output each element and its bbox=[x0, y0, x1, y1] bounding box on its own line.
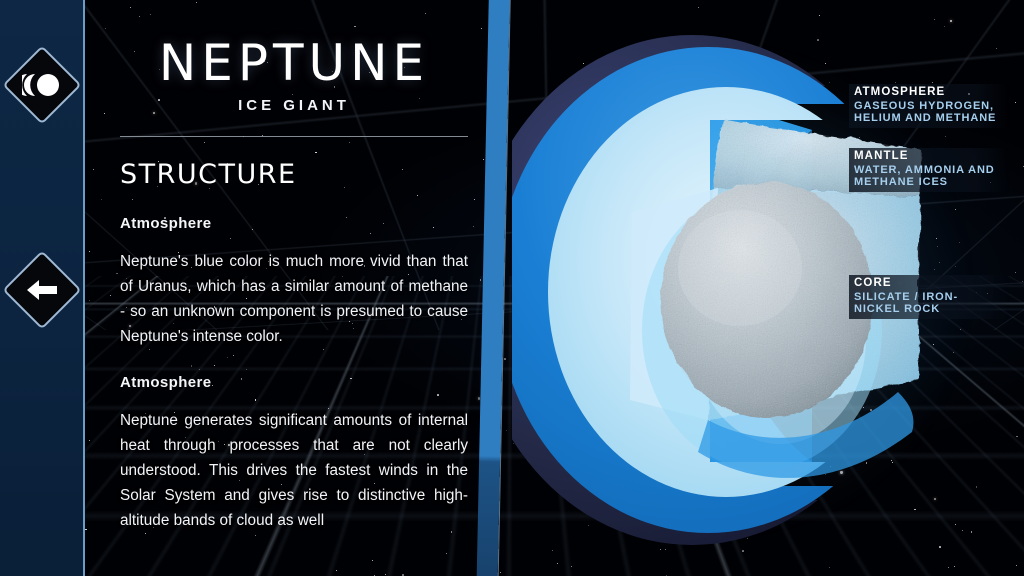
section-atmosphere-2: Atmosphere Neptune generates significant… bbox=[120, 374, 468, 533]
page-title: NEPTUNE bbox=[120, 38, 468, 88]
sidebar-item-back[interactable] bbox=[6, 254, 78, 326]
presentation-slide: ATMOSPHERE GASEOUS HYDROGEN, HELIUM AND … bbox=[0, 0, 1024, 576]
title-block: NEPTUNE ICE GIANT bbox=[120, 0, 468, 114]
callout-mantle: MANTLE WATER, AMMONIA AND METHANE ICES bbox=[849, 148, 1009, 192]
callout-atmosphere: ATMOSPHERE GASEOUS HYDROGEN, HELIUM AND … bbox=[849, 84, 1009, 128]
section-title: STRUCTURE bbox=[120, 159, 468, 190]
callout-core-title: CORE bbox=[854, 277, 1004, 290]
core-rock bbox=[661, 182, 873, 418]
callout-core-description: SILICATE / IRON-NICKEL ROCK bbox=[854, 291, 1004, 316]
title-divider-rule bbox=[120, 136, 468, 137]
callout-mantle-description: WATER, AMMONIA AND METHANE ICES bbox=[854, 164, 1004, 189]
sidebar-item-home-logo[interactable] bbox=[6, 49, 78, 121]
subsection-heading: Atmosphere bbox=[120, 374, 468, 391]
callout-atmosphere-description: GASEOUS HYDROGEN, HELIUM AND METHANE bbox=[854, 100, 1004, 125]
subsection-body: Neptune generates significant amounts of… bbox=[120, 408, 468, 533]
page-subtitle: ICE GIANT bbox=[120, 97, 468, 114]
subsection-body: Neptune's blue color is much more vivid … bbox=[120, 249, 468, 349]
section-atmosphere-1: Atmosphere Neptune's blue color is much … bbox=[120, 215, 468, 349]
arrow-left-icon bbox=[23, 276, 61, 304]
callout-atmosphere-title: ATMOSPHERE bbox=[854, 86, 1004, 99]
planet-rings-logo-icon bbox=[22, 71, 62, 99]
subsection-heading: Atmosphere bbox=[120, 215, 468, 232]
content-panel: NEPTUNE ICE GIANT STRUCTURE Atmosphere N… bbox=[85, 0, 490, 576]
callout-mantle-title: MANTLE bbox=[854, 150, 1004, 163]
callout-core: CORE SILICATE / IRON-NICKEL ROCK bbox=[849, 275, 1009, 319]
left-sidebar bbox=[0, 0, 85, 576]
